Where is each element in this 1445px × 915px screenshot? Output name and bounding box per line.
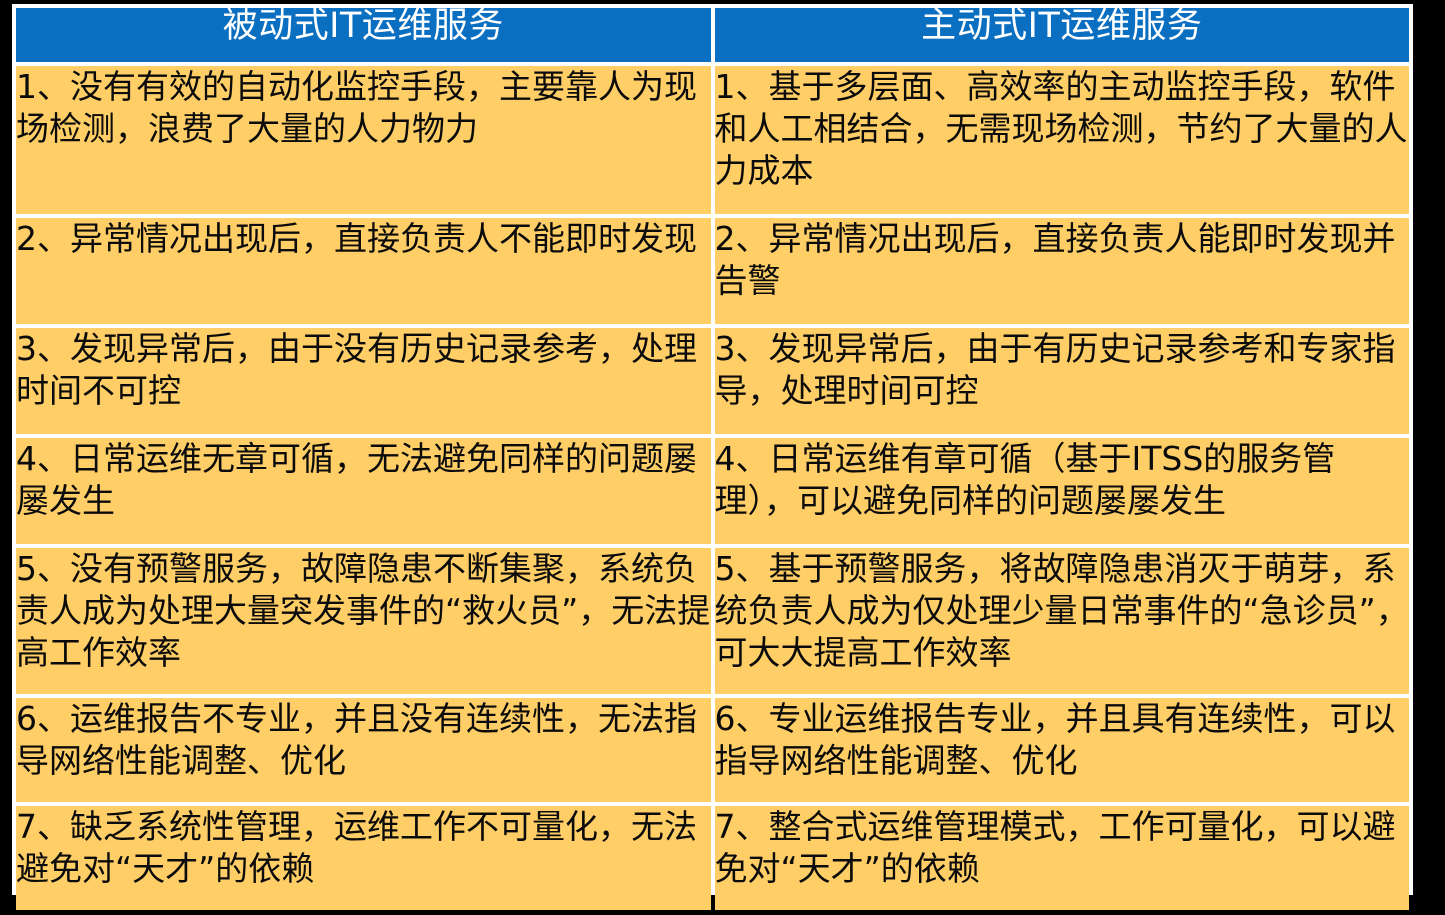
column-header-active: 主动式IT运维服务 [715,8,1410,62]
cell-active-2: 2、异常情况出现后，直接负责人能即时发现并告警 [715,218,1410,324]
table-header: 被动式IT运维服务 主动式IT运维服务 [16,8,1409,62]
table-body: 1、没有有效的自动化监控手段，主要靠人为现场检测，浪费了大量的人力物力 1、基于… [16,66,1409,910]
column-header-passive: 被动式IT运维服务 [16,8,711,62]
table-row: 5、没有预警服务，故障隐患不断集聚，系统负责人成为处理大量突发事件的“救火员”，… [16,548,1409,694]
table-row: 7、缺乏系统性管理，运维工作不可量化，无法避免对“天才”的依赖 7、整合式运维管… [16,806,1409,910]
cell-passive-5: 5、没有预警服务，故障隐患不断集聚，系统负责人成为处理大量突发事件的“救火员”，… [16,548,711,694]
cell-passive-6: 6、运维报告不专业，并且没有连续性，无法指导网络性能调整、优化 [16,698,711,802]
table-row: 1、没有有效的自动化监控手段，主要靠人为现场检测，浪费了大量的人力物力 1、基于… [16,66,1409,214]
cell-active-3: 3、发现异常后，由于有历史记录参考和专家指导，处理时间可控 [715,328,1410,434]
table-row: 4、日常运维无章可循，无法避免同样的问题屡屡发生 4、日常运维有章可循（基于IT… [16,438,1409,544]
header-row: 被动式IT运维服务 主动式IT运维服务 [16,8,1409,62]
cell-active-4: 4、日常运维有章可循（基于ITSS的服务管理），可以避免同样的问题屡屡发生 [715,438,1410,544]
cell-active-5: 5、基于预警服务，将故障隐患消灭于萌芽，系统负责人成为仅处理少量日常事件的“急诊… [715,548,1410,694]
table-row: 6、运维报告不专业，并且没有连续性，无法指导网络性能调整、优化 6、专业运维报告… [16,698,1409,802]
cell-passive-4: 4、日常运维无章可循，无法避免同样的问题屡屡发生 [16,438,711,544]
cell-passive-7: 7、缺乏系统性管理，运维工作不可量化，无法避免对“天才”的依赖 [16,806,711,910]
comparison-table-container: 被动式IT运维服务 主动式IT运维服务 1、没有有效的自动化监控手段，主要靠人为… [12,4,1413,895]
cell-passive-1: 1、没有有效的自动化监控手段，主要靠人为现场检测，浪费了大量的人力物力 [16,66,711,214]
cell-active-6: 6、专业运维报告专业，并且具有连续性，可以指导网络性能调整、优化 [715,698,1410,802]
cell-active-1: 1、基于多层面、高效率的主动监控手段，软件和人工相结合，无需现场检测，节约了大量… [715,66,1410,214]
slide-canvas: 被动式IT运维服务 主动式IT运维服务 1、没有有效的自动化监控手段，主要靠人为… [0,0,1445,915]
cell-passive-3: 3、发现异常后，由于没有历史记录参考，处理时间不可控 [16,328,711,434]
comparison-table: 被动式IT运维服务 主动式IT运维服务 1、没有有效的自动化监控手段，主要靠人为… [12,4,1413,914]
cell-active-7: 7、整合式运维管理模式，工作可量化，可以避免对“天才”的依赖 [715,806,1410,910]
table-row: 2、异常情况出现后，直接负责人不能即时发现 2、异常情况出现后，直接负责人能即时… [16,218,1409,324]
cell-passive-2: 2、异常情况出现后，直接负责人不能即时发现 [16,218,711,324]
table-row: 3、发现异常后，由于没有历史记录参考，处理时间不可控 3、发现异常后，由于有历史… [16,328,1409,434]
